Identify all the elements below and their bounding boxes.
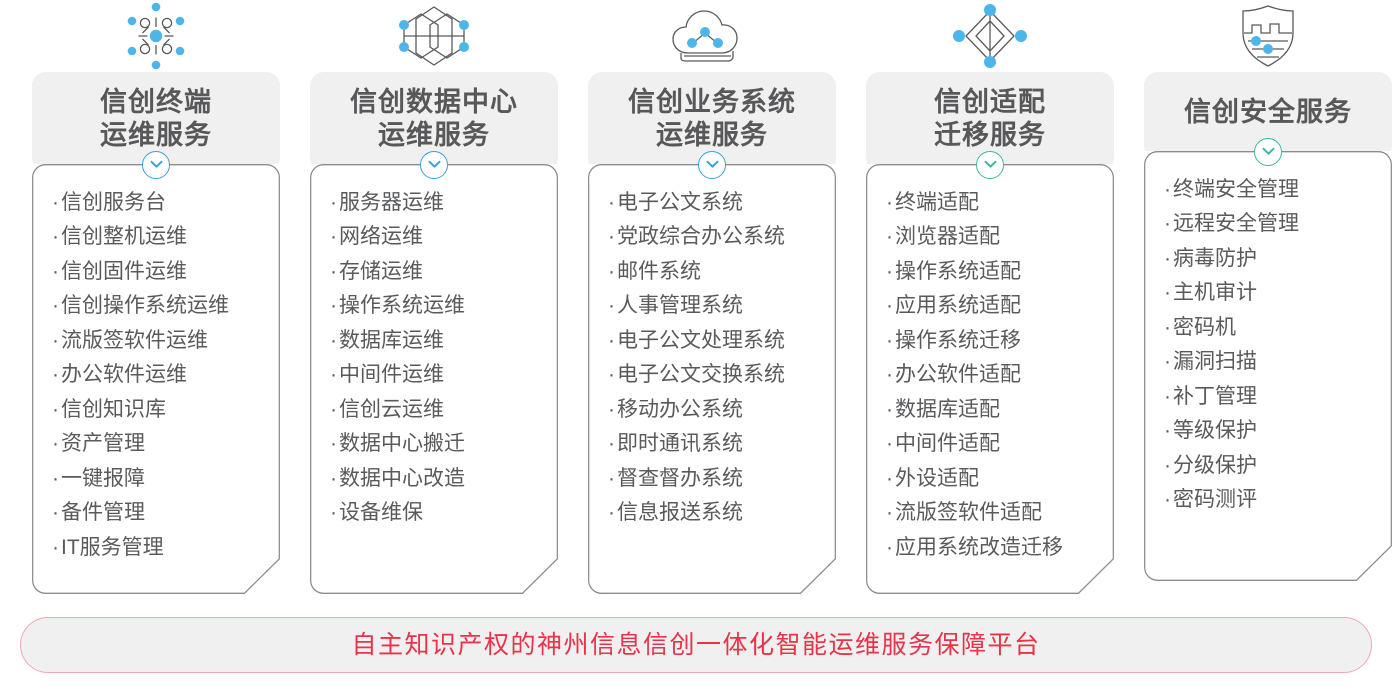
service-item-list: ·终端安全管理 ·远程安全管理 ·病毒防护 ·主机审计 ·密码机 ·漏洞扫描 ·… bbox=[1144, 151, 1392, 536]
bullet-icon: · bbox=[886, 329, 893, 352]
list-item[interactable]: ·设备维保 bbox=[330, 496, 546, 531]
cloud-business-system-icon bbox=[588, 0, 836, 72]
list-item[interactable]: ·移动办公系统 bbox=[608, 393, 824, 428]
list-item[interactable]: ·外设适配 bbox=[886, 462, 1102, 497]
bullet-icon: · bbox=[52, 329, 59, 352]
shield-security-icon bbox=[1144, 0, 1392, 72]
list-item[interactable]: ·信创服务台 bbox=[52, 186, 268, 221]
chevron-down-icon[interactable] bbox=[976, 151, 1004, 179]
bullet-icon: · bbox=[608, 432, 615, 455]
bullet-icon: · bbox=[52, 260, 59, 283]
bullet-icon: · bbox=[330, 329, 337, 352]
list-item[interactable]: ·密码机 bbox=[1164, 311, 1380, 346]
column-title: 信创终端 运维服务 bbox=[42, 86, 270, 152]
service-item-list: ·电子公文系统 ·党政综合办公系统 ·邮件系统 ·人事管理系统 ·电子公文处理系… bbox=[588, 164, 836, 549]
list-item[interactable]: ·数据库适配 bbox=[886, 393, 1102, 428]
column-title: 信创数据中心 运维服务 bbox=[320, 86, 548, 152]
list-item[interactable]: ·密码测评 bbox=[1164, 483, 1380, 518]
bullet-icon: · bbox=[886, 363, 893, 386]
service-overview-board: 信创终端 运维服务 ·信创服务台 ·信创整机运维 ·信创固件运维 ·信创操作系统… bbox=[0, 0, 1392, 692]
service-column-terminal: 信创终端 运维服务 ·信创服务台 ·信创整机运维 ·信创固件运维 ·信创操作系统… bbox=[32, 0, 280, 594]
bullet-icon: · bbox=[330, 260, 337, 283]
list-item[interactable]: ·等级保护 bbox=[1164, 414, 1380, 449]
service-columns: 信创终端 运维服务 ·信创服务台 ·信创整机运维 ·信创固件运维 ·信创操作系统… bbox=[0, 0, 1392, 608]
column-title: 信创适配 迁移服务 bbox=[876, 86, 1104, 152]
bullet-icon: · bbox=[608, 329, 615, 352]
column-list-card: ·信创服务台 ·信创整机运维 ·信创固件运维 ·信创操作系统运维 ·流版签软件运… bbox=[32, 164, 280, 594]
list-item[interactable]: ·补丁管理 bbox=[1164, 380, 1380, 415]
bullet-icon: · bbox=[330, 294, 337, 317]
service-column-adaptation: 信创适配 迁移服务 ·终端适配 ·浏览器适配 ·操作系统适配 ·应用系统适配 ·… bbox=[866, 0, 1114, 594]
bullet-icon: · bbox=[608, 191, 615, 214]
bullet-icon: · bbox=[330, 191, 337, 214]
list-item[interactable]: ·分级保护 bbox=[1164, 449, 1380, 484]
bullet-icon: · bbox=[52, 294, 59, 317]
platform-banner: 自主知识产权的神州信息信创一体化智能运维服务保障平台 bbox=[20, 617, 1372, 673]
column-list-card: ·电子公文系统 ·党政综合办公系统 ·邮件系统 ·人事管理系统 ·电子公文处理系… bbox=[588, 164, 836, 594]
bullet-icon: · bbox=[1164, 454, 1171, 477]
list-item[interactable]: ·信创知识库 bbox=[52, 393, 268, 428]
list-item[interactable]: ·资产管理 bbox=[52, 427, 268, 462]
list-item[interactable]: ·电子公文交换系统 bbox=[608, 358, 824, 393]
bullet-icon: · bbox=[330, 398, 337, 421]
list-item[interactable]: ·邮件系统 bbox=[608, 255, 824, 290]
bullet-icon: · bbox=[886, 294, 893, 317]
list-item[interactable]: ·备件管理 bbox=[52, 496, 268, 531]
bullet-icon: · bbox=[52, 501, 59, 524]
bullet-icon: · bbox=[330, 225, 337, 248]
bullet-icon: · bbox=[886, 260, 893, 283]
bullet-icon: · bbox=[608, 294, 615, 317]
list-item[interactable]: ·中间件运维 bbox=[330, 358, 546, 393]
bullet-icon: · bbox=[52, 432, 59, 455]
diamond-adaptation-icon bbox=[866, 0, 1114, 72]
list-item[interactable]: ·终端安全管理 bbox=[1164, 173, 1380, 208]
service-item-list: ·信创服务台 ·信创整机运维 ·信创固件运维 ·信创操作系统运维 ·流版签软件运… bbox=[32, 164, 280, 584]
column-list-card: ·终端适配 ·浏览器适配 ·操作系统适配 ·应用系统适配 ·操作系统迁移 ·办公… bbox=[866, 164, 1114, 594]
chevron-down-icon[interactable] bbox=[698, 151, 726, 179]
list-item[interactable]: ·办公软件运维 bbox=[52, 358, 268, 393]
column-title: 信创业务系统 运维服务 bbox=[598, 86, 826, 152]
chevron-down-icon[interactable] bbox=[420, 151, 448, 179]
bullet-icon: · bbox=[52, 536, 59, 559]
bullet-icon: · bbox=[52, 467, 59, 490]
list-item[interactable]: ·主机审计 bbox=[1164, 276, 1380, 311]
list-item[interactable]: ·病毒防护 bbox=[1164, 242, 1380, 277]
list-item[interactable]: ·服务器运维 bbox=[330, 186, 546, 221]
list-item[interactable]: ·数据中心搬迁 bbox=[330, 427, 546, 462]
bullet-icon: · bbox=[52, 363, 59, 386]
column-list-card: ·终端安全管理 ·远程安全管理 ·病毒防护 ·主机审计 ·密码机 ·漏洞扫描 ·… bbox=[1144, 151, 1392, 581]
list-item[interactable]: ·IT服务管理 bbox=[52, 531, 268, 566]
bullet-icon: · bbox=[330, 467, 337, 490]
bullet-icon: · bbox=[330, 363, 337, 386]
service-column-security: 信创安全服务 ·终端安全管理 ·远程安全管理 ·病毒防护 ·主机审计 ·密码机 bbox=[1144, 0, 1392, 581]
column-list-card: ·服务器运维 ·网络运维 ·存储运维 ·操作系统运维 ·数据库运维 ·中间件运维… bbox=[310, 164, 558, 594]
bullet-icon: · bbox=[330, 432, 337, 455]
list-item[interactable]: ·信创云运维 bbox=[330, 393, 546, 428]
service-item-list: ·服务器运维 ·网络运维 ·存储运维 ·操作系统运维 ·数据库运维 ·中间件运维… bbox=[310, 164, 558, 549]
list-item[interactable]: ·应用系统适配 bbox=[886, 289, 1102, 324]
list-item[interactable]: ·存储运维 bbox=[330, 255, 546, 290]
list-item[interactable]: ·网络运维 bbox=[330, 220, 546, 255]
list-item[interactable]: ·一键报障 bbox=[52, 462, 268, 497]
list-item[interactable]: ·办公软件适配 bbox=[886, 358, 1102, 393]
bullet-icon: · bbox=[52, 225, 59, 248]
list-item[interactable]: ·信创整机运维 bbox=[52, 220, 268, 255]
bullet-icon: · bbox=[608, 501, 615, 524]
bullet-icon: · bbox=[886, 536, 893, 559]
terminal-node-network-icon bbox=[32, 0, 280, 72]
list-item[interactable]: ·应用系统改造迁移 bbox=[886, 531, 1102, 566]
list-item[interactable]: ·流版签软件运维 bbox=[52, 324, 268, 359]
bullet-icon: · bbox=[1164, 488, 1171, 511]
bullet-icon: · bbox=[1164, 247, 1171, 270]
bullet-icon: · bbox=[1164, 350, 1171, 373]
list-item[interactable]: ·操作系统迁移 bbox=[886, 324, 1102, 359]
list-item[interactable]: ·流版签软件适配 bbox=[886, 496, 1102, 531]
list-item[interactable]: ·信息报送系统 bbox=[608, 496, 824, 531]
list-item[interactable]: ·浏览器适配 bbox=[886, 220, 1102, 255]
bullet-icon: · bbox=[52, 191, 59, 214]
service-column-datacenter: 信创数据中心 运维服务 ·服务器运维 ·网络运维 ·存储运维 ·操作系统运维 ·… bbox=[310, 0, 558, 594]
bullet-icon: · bbox=[886, 225, 893, 248]
service-column-business: 信创业务系统 运维服务 ·电子公文系统 ·党政综合办公系统 ·邮件系统 ·人事管… bbox=[588, 0, 836, 594]
bullet-icon: · bbox=[1164, 212, 1171, 235]
list-item[interactable]: ·人事管理系统 bbox=[608, 289, 824, 324]
list-item[interactable]: ·远程安全管理 bbox=[1164, 207, 1380, 242]
bullet-icon: · bbox=[608, 467, 615, 490]
list-item[interactable]: ·数据库运维 bbox=[330, 324, 546, 359]
bullet-icon: · bbox=[608, 225, 615, 248]
bullet-icon: · bbox=[886, 501, 893, 524]
list-item[interactable]: ·操作系统运维 bbox=[330, 289, 546, 324]
list-item[interactable]: ·操作系统适配 bbox=[886, 255, 1102, 290]
list-item[interactable]: ·终端适配 bbox=[886, 186, 1102, 221]
bullet-icon: · bbox=[886, 398, 893, 421]
list-item[interactable]: ·党政综合办公系统 bbox=[608, 220, 824, 255]
bullet-icon: · bbox=[1164, 419, 1171, 442]
bullet-icon: · bbox=[52, 398, 59, 421]
list-item[interactable]: ·数据中心改造 bbox=[330, 462, 546, 497]
platform-banner-text: 自主知识产权的神州信息信创一体化智能运维服务保障平台 bbox=[351, 633, 1040, 658]
list-item[interactable]: ·督查督办系统 bbox=[608, 462, 824, 497]
list-item[interactable]: ·电子公文处理系统 bbox=[608, 324, 824, 359]
list-item[interactable]: ·漏洞扫描 bbox=[1164, 345, 1380, 380]
bullet-icon: · bbox=[608, 363, 615, 386]
list-item[interactable]: ·即时通讯系统 bbox=[608, 427, 824, 462]
column-title: 信创安全服务 bbox=[1154, 96, 1382, 129]
list-item[interactable]: ·信创固件运维 bbox=[52, 255, 268, 290]
bullet-icon: · bbox=[1164, 316, 1171, 339]
bullet-icon: · bbox=[886, 467, 893, 490]
service-item-list: ·终端适配 ·浏览器适配 ·操作系统适配 ·应用系统适配 ·操作系统迁移 ·办公… bbox=[866, 164, 1114, 584]
hexagon-datacenter-icon bbox=[310, 0, 558, 72]
list-item[interactable]: ·信创操作系统运维 bbox=[52, 289, 268, 324]
chevron-down-icon[interactable] bbox=[1254, 138, 1282, 166]
bullet-icon: · bbox=[608, 260, 615, 283]
list-item[interactable]: ·电子公文系统 bbox=[608, 186, 824, 221]
bullet-icon: · bbox=[1164, 385, 1171, 408]
bullet-icon: · bbox=[886, 191, 893, 214]
chevron-down-icon[interactable] bbox=[142, 151, 170, 179]
bullet-icon: · bbox=[330, 501, 337, 524]
bullet-icon: · bbox=[1164, 178, 1171, 201]
bullet-icon: · bbox=[1164, 281, 1171, 304]
bullet-icon: · bbox=[886, 432, 893, 455]
list-item[interactable]: ·中间件适配 bbox=[886, 427, 1102, 462]
bullet-icon: · bbox=[608, 398, 615, 421]
